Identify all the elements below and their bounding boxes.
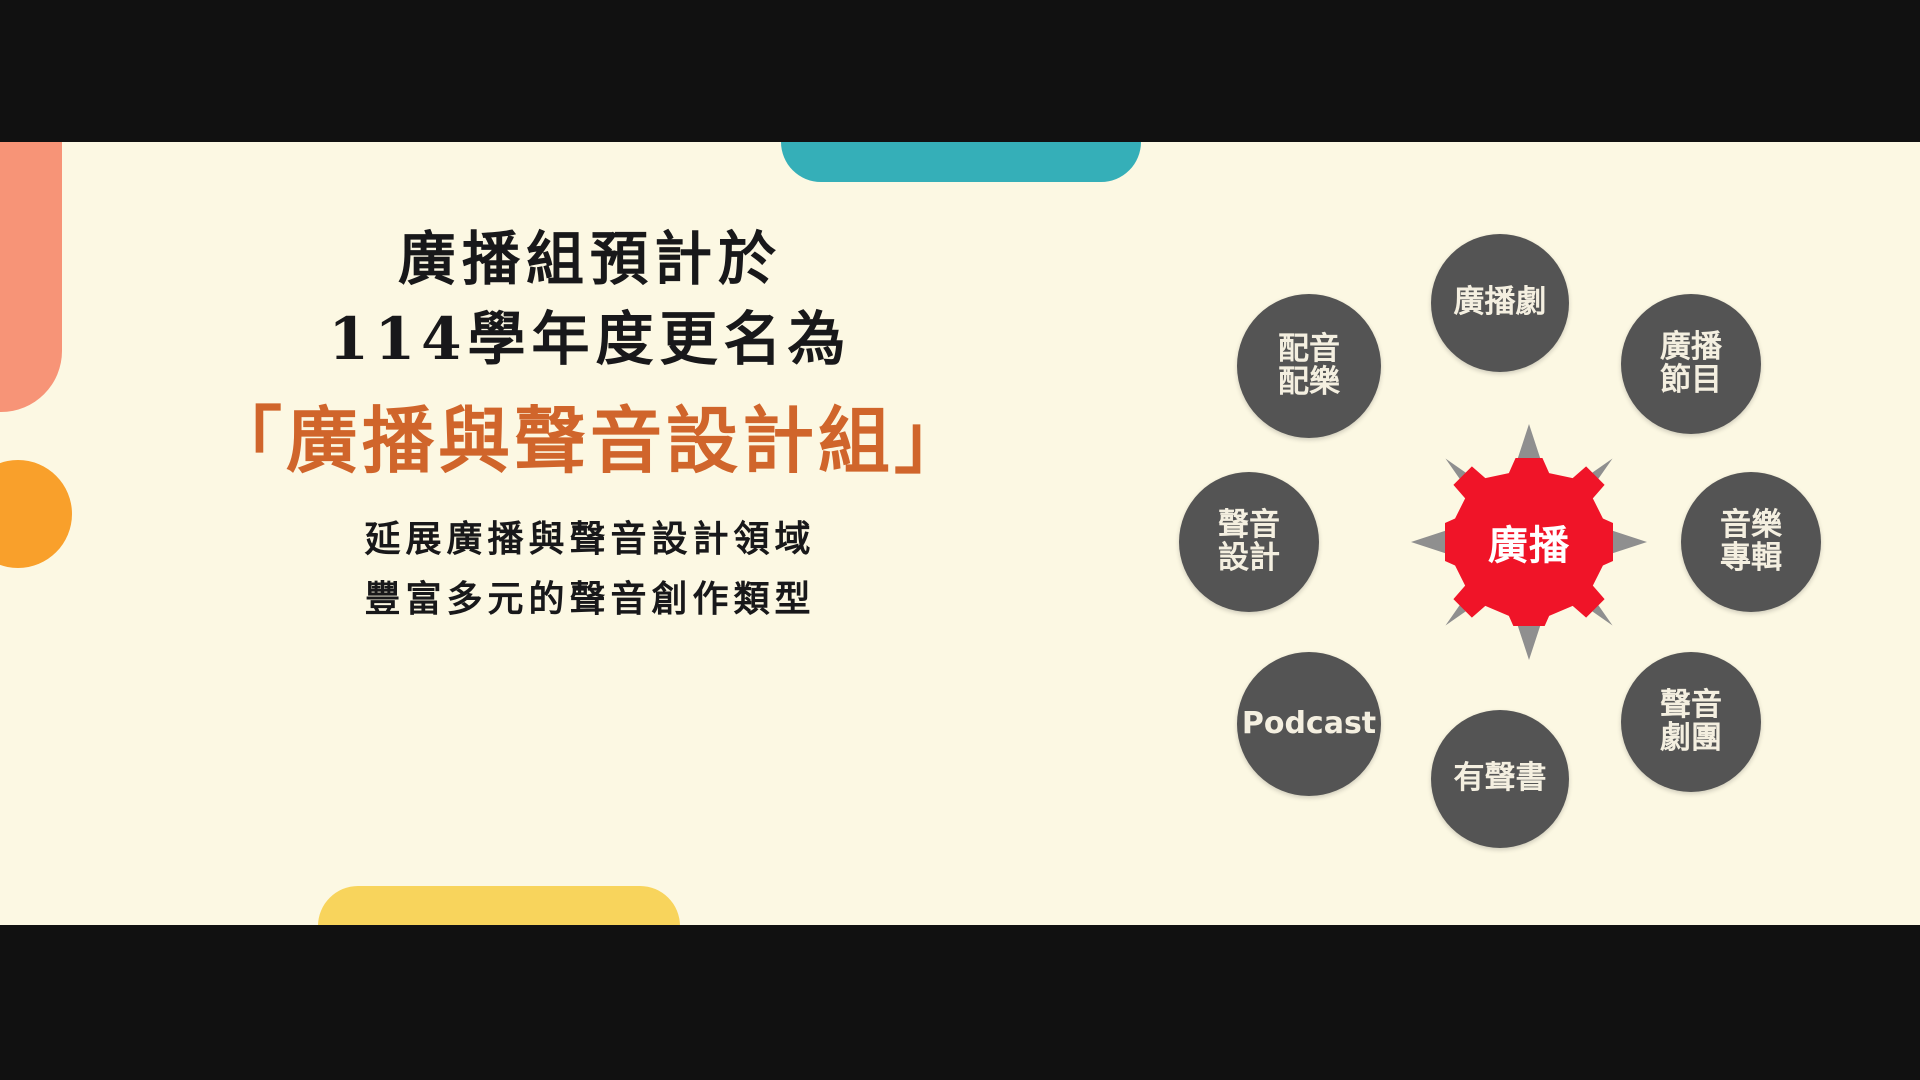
sub-line-1: 延展廣播與聲音設計領域 [150, 510, 1030, 568]
letterbox-bottom [0, 925, 1920, 1080]
node-label-line2: 設計 [1218, 542, 1280, 575]
diagram-node-right[interactable]: 音樂 專輯 [1681, 472, 1821, 612]
salmon-rounded-rect-icon [0, 142, 62, 412]
teal-rounded-rect-icon [781, 142, 1141, 182]
diagram-node-top-right[interactable]: 廣播 節目 [1621, 294, 1761, 434]
node-label-line1: 音樂 [1720, 509, 1782, 542]
node-label-line1: 廣播 [1660, 331, 1722, 364]
node-label-line2: 劇團 [1660, 722, 1722, 755]
orange-circle-icon [0, 460, 72, 568]
slide-text-block: 廣播組預計於 114學年度更名為 「廣播與聲音設計組」 延展廣播與聲音設計領域 … [150, 222, 1030, 629]
heading-line-2: 114學年度更名為 [150, 302, 1030, 376]
diagram-center-label: 廣播 [1488, 513, 1570, 571]
diagram-node-bottom[interactable]: 有聲書 [1431, 710, 1569, 848]
page-title: 「廣播與聲音設計組」 [150, 394, 1030, 488]
node-label-line2: 配樂 [1278, 366, 1340, 399]
node-label-line2: 節目 [1660, 364, 1722, 397]
yellow-rounded-rect-icon [318, 886, 680, 925]
letterbox-top [0, 0, 1920, 142]
node-label-line2: 專輯 [1720, 542, 1782, 575]
node-label-line1: Podcast [1242, 708, 1376, 740]
diagram-node-top-left[interactable]: 配音 配樂 [1237, 294, 1381, 438]
video-frame: 廣播組預計於 114學年度更名為 「廣播與聲音設計組」 延展廣播與聲音設計領域 … [0, 0, 1920, 1080]
radial-diagram: 廣播 廣播劇 廣播 節目 音樂 專輯 [1215, 232, 1835, 832]
diagram-node-bottom-right[interactable]: 聲音 劇團 [1621, 652, 1761, 792]
diagram-node-left[interactable]: 聲音 設計 [1179, 472, 1319, 612]
diagram-node-bottom-left[interactable]: Podcast [1237, 652, 1381, 796]
slide-canvas: 廣播組預計於 114學年度更名為 「廣播與聲音設計組」 延展廣播與聲音設計領域 … [0, 142, 1920, 925]
diagram-node-top[interactable]: 廣播劇 [1431, 234, 1569, 372]
sub-line-2: 豐富多元的聲音創作類型 [150, 570, 1030, 628]
node-label-line1: 配音 [1278, 333, 1340, 366]
node-label-line1: 有聲書 [1454, 762, 1547, 795]
node-label-line1: 聲音 [1218, 509, 1280, 542]
node-label-line1: 聲音 [1660, 689, 1722, 722]
heading-line-1: 廣播組預計於 [150, 222, 1030, 296]
node-label-line1: 廣播劇 [1454, 286, 1547, 319]
center-gear-icon: 廣播 [1445, 458, 1613, 626]
